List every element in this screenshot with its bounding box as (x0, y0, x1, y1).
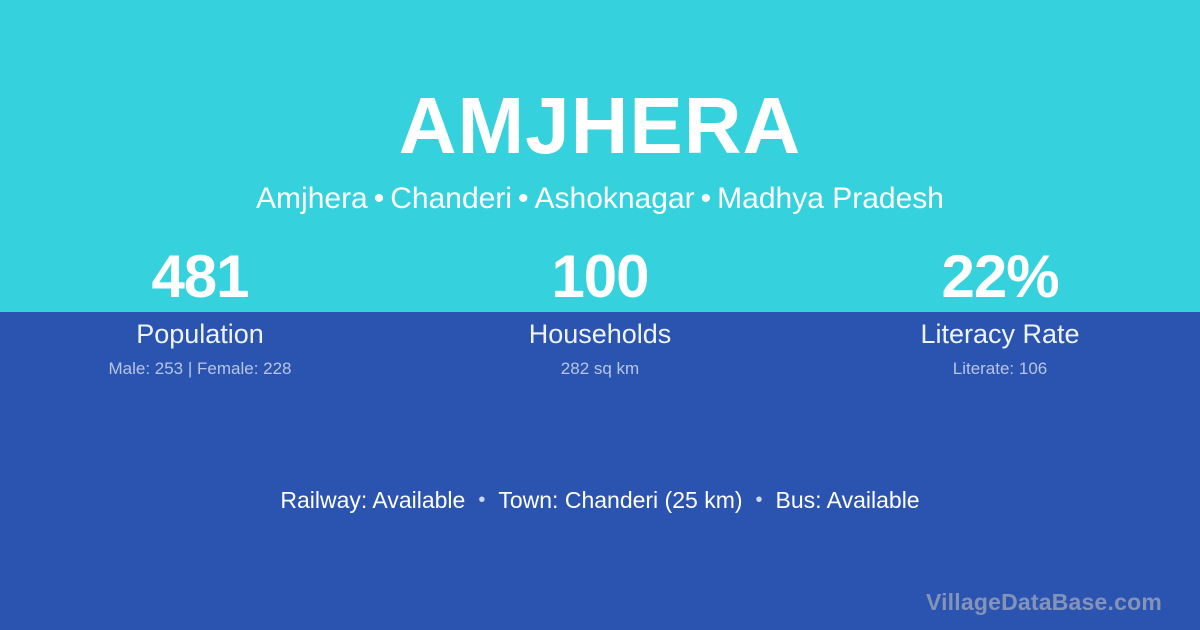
breadcrumb-item-district: Ashoknagar (535, 182, 695, 215)
stat-block-population: 481 Population Male: 253 | Female: 228 (0, 244, 400, 379)
stat-label-population: Population (0, 318, 400, 350)
amenity-separator: • (743, 485, 776, 515)
stat-sub-households: 282 sq km (400, 359, 800, 379)
site-brand-watermark: VillageDataBase.com (926, 588, 1162, 616)
breadcrumb-separator: • (368, 181, 391, 217)
amenities-row: Railway: Available•Town: Chanderi (25 km… (0, 485, 1200, 515)
stat-sub-population: Male: 253 | Female: 228 (0, 359, 400, 379)
stats-row: 481 Population Male: 253 | Female: 228 1… (0, 244, 1200, 379)
stat-sub-literacy: Literate: 106 (800, 359, 1200, 379)
stat-label-households: Households (400, 318, 800, 350)
breadcrumb-item-village: Amjhera (256, 182, 368, 215)
page-title: AMJHERA (0, 86, 1200, 166)
stat-block-literacy: 22% Literacy Rate Literate: 106 (800, 244, 1200, 379)
stat-value-literacy: 22% (800, 244, 1200, 310)
amenity-separator: • (465, 485, 498, 515)
village-info-card: AMJHERA Amjhera•Chanderi•Ashoknagar•Madh… (0, 0, 1200, 630)
stat-block-households: 100 Households 282 sq km (400, 244, 800, 379)
amenity-bus: Bus: Available (776, 485, 920, 515)
breadcrumb-separator: • (512, 181, 535, 217)
breadcrumb-separator: • (695, 181, 718, 217)
stat-value-population: 481 (0, 244, 400, 310)
stat-value-households: 100 (400, 244, 800, 310)
amenity-railway: Railway: Available (280, 485, 465, 515)
breadcrumb: Amjhera•Chanderi•Ashoknagar•Madhya Prade… (0, 181, 1200, 217)
breadcrumb-item-block: Chanderi (390, 182, 512, 215)
amenity-town: Town: Chanderi (25 km) (498, 485, 742, 515)
breadcrumb-item-state: Madhya Pradesh (717, 182, 944, 215)
stat-label-literacy: Literacy Rate (800, 318, 1200, 350)
